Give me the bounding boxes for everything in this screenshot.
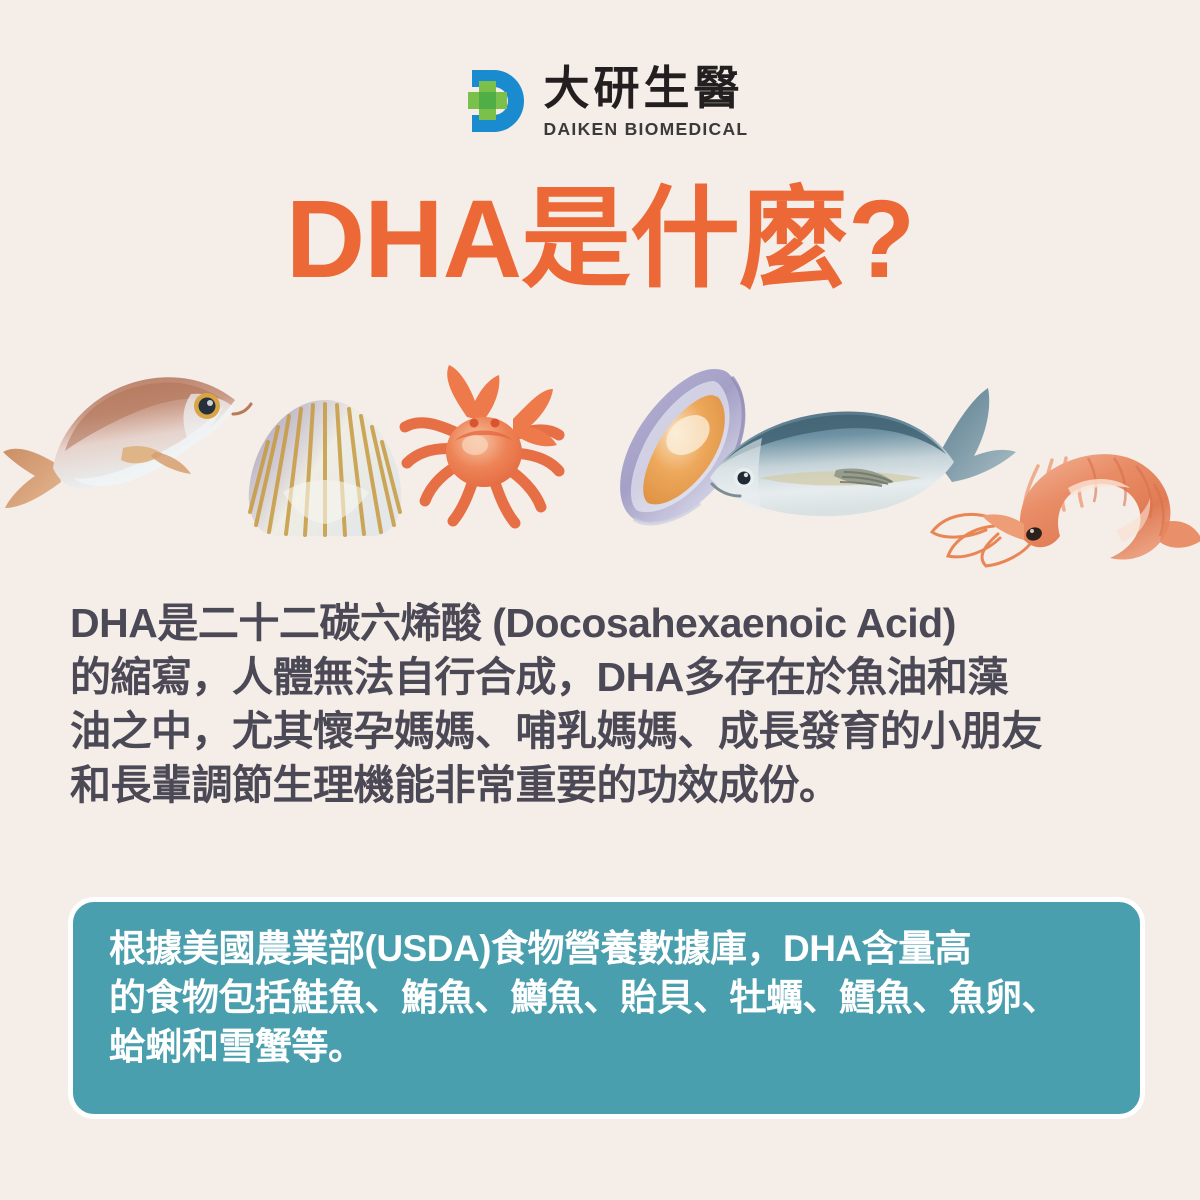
daiken-d-cross-logo-icon (452, 62, 530, 140)
brand-name-cn: 大研生醫 (544, 65, 744, 111)
clam-shell-illustration-icon (243, 394, 408, 549)
usda-callout-box: 根據美國農業部(USDA)食物營養數據庫，DHA含量高 的食物包括鮭魚、鮪魚、鱒… (68, 897, 1145, 1119)
body-line-3: 油之中，尤其懷孕媽媽、哺乳媽媽、成長發育的小朋友 (70, 704, 1155, 758)
callout-text: 根據美國農業部(USDA)食物營養數據庫，DHA含量高 的食物包括鮭魚、鮪魚、鱒… (109, 924, 1110, 1072)
shrimp-illustration-icon (920, 376, 1200, 576)
brand-name-en: DAIKEN BIOMEDICAL (544, 121, 749, 139)
brand-logo-bar: 大研生醫 DAIKEN BIOMEDICAL (0, 62, 1200, 140)
brand-wordmark: 大研生醫 DAIKEN BIOMEDICAL (544, 62, 749, 139)
callout-line-1: 根據美國農業部(USDA)食物營養數據庫，DHA含量高 (109, 924, 1110, 973)
body-line-1: DHA是二十二碳六烯酸 (Docosahexaenoic Acid) (70, 596, 1155, 650)
body-paragraph: DHA是二十二碳六烯酸 (Docosahexaenoic Acid) 的縮寫，人… (70, 596, 1155, 812)
callout-line-2: 的食物包括鮭魚、鮪魚、鱒魚、貽貝、牡蠣、鱈魚、魚卵、 (109, 973, 1110, 1022)
body-line-2: 的縮寫，人體無法自行合成，DHA多存在於魚油和藻 (70, 650, 1155, 704)
callout-line-3: 蛤蜊和雪蟹等。 (109, 1022, 1110, 1071)
sea-bream-fish-illustration-icon (0, 356, 255, 546)
seafood-illustration-row (0, 348, 1200, 568)
body-line-4: 和長輩調節生理機能非常重要的功效成份。 (70, 758, 1155, 812)
crab-illustration-icon (385, 353, 575, 538)
page-title: DHA是什麼? (0, 182, 1200, 299)
